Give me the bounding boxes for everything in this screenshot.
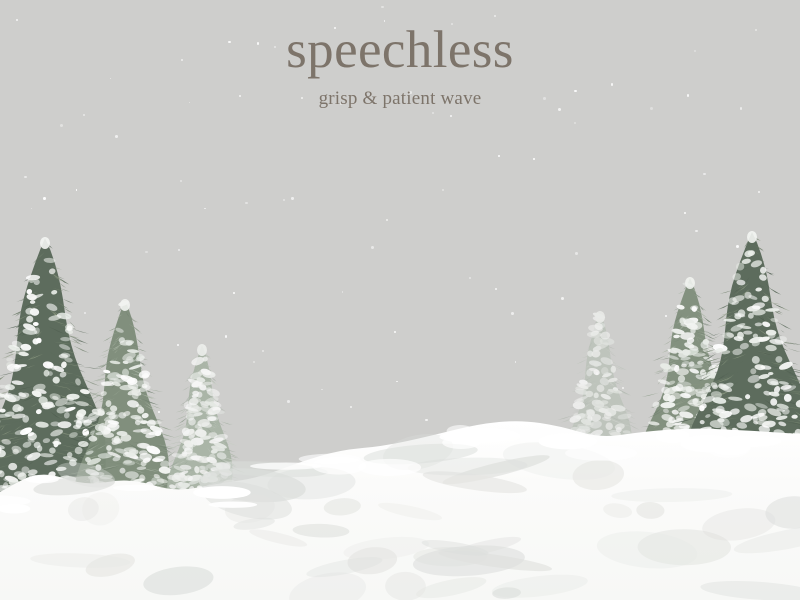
- tree-crown-snow: [40, 237, 50, 249]
- branch-stroke: [780, 330, 784, 333]
- branch-stroke: [135, 333, 139, 336]
- tree-crown-snow: [747, 231, 757, 243]
- branch-stroke: [642, 393, 660, 397]
- branch-stroke: [89, 391, 101, 397]
- snow-dab: [676, 368, 689, 375]
- snow-highlight: [443, 428, 521, 445]
- branch-stroke: [787, 348, 800, 352]
- branch-stroke: [777, 322, 792, 330]
- snow-highlight: [358, 459, 421, 476]
- branch-stroke: [92, 377, 106, 382]
- tree-crown-snow: [685, 277, 695, 289]
- snow-highlight: [299, 454, 361, 464]
- branch-stroke: [81, 367, 103, 370]
- branch-stroke: [62, 299, 73, 304]
- snow-highlight: [250, 463, 322, 470]
- branch-stroke: [94, 400, 99, 404]
- branch-stroke: [71, 337, 88, 345]
- branch-stroke: [72, 329, 90, 334]
- branch-stroke: [151, 405, 162, 409]
- branch-stroke: [173, 423, 186, 428]
- branch-stroke: [73, 346, 89, 354]
- snow-dab: [6, 358, 13, 362]
- branch-stroke: [575, 370, 586, 375]
- branch-stroke: [712, 336, 720, 339]
- page-subtitle: grisp & patient wave: [0, 89, 800, 108]
- winter-scene: speechless grisp & patient wave: [0, 0, 800, 600]
- snow-highlight: [680, 435, 734, 452]
- snow-dab: [710, 371, 715, 375]
- snow-highlight: [25, 476, 59, 484]
- branch-stroke: [652, 355, 666, 361]
- tree-crown-snow: [120, 299, 130, 311]
- title-block: speechless grisp & patient wave: [0, 24, 800, 108]
- tree-crown-snow: [197, 344, 207, 356]
- snow-highlight: [113, 485, 160, 491]
- snow-highlight: [209, 502, 258, 508]
- branch-stroke: [137, 339, 144, 345]
- branch-stroke: [220, 421, 225, 424]
- branch-stroke: [0, 375, 6, 383]
- branch-stroke: [2, 354, 14, 358]
- branch-stroke: [182, 386, 190, 391]
- snow-highlight: [193, 486, 251, 499]
- branch-stroke: [614, 364, 627, 370]
- branch-stroke: [703, 316, 713, 323]
- branch-stroke: [149, 389, 163, 392]
- branch-stroke: [787, 342, 800, 345]
- page-title: speechless: [0, 24, 800, 77]
- branch-stroke: [0, 376, 5, 381]
- snow-highlight: [565, 446, 637, 461]
- branch-stroke: [576, 359, 588, 364]
- tree-crown-snow: [595, 311, 605, 323]
